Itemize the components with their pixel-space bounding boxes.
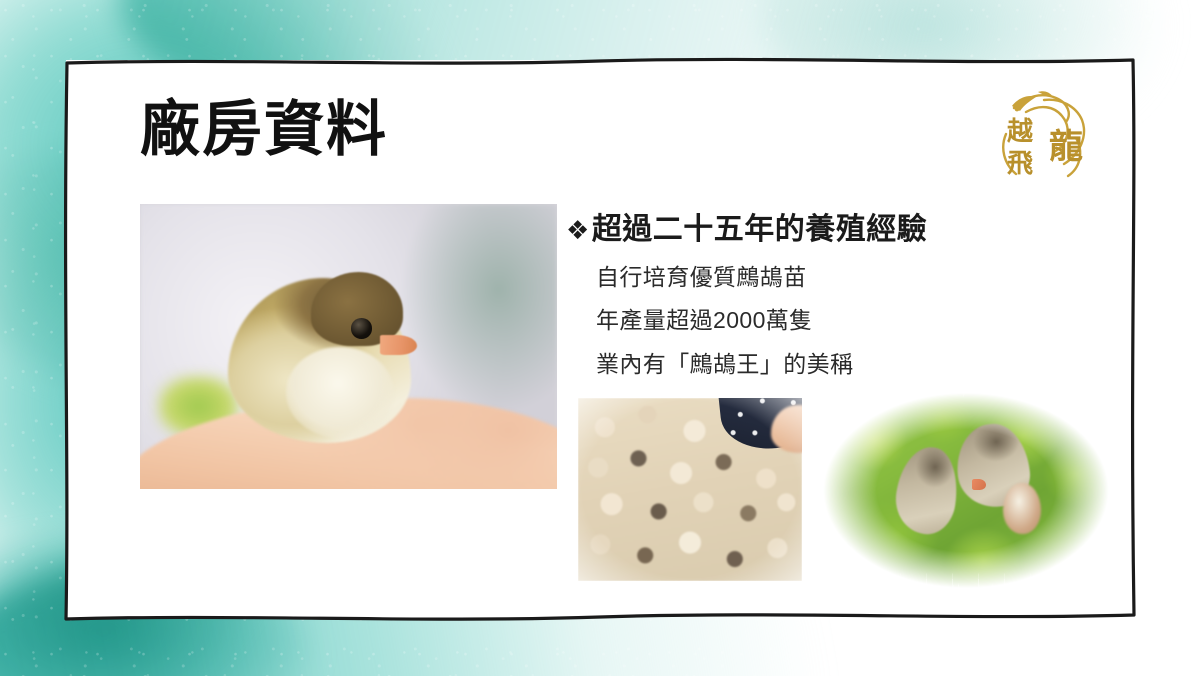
logo-char-yue: 越 [1007,117,1034,147]
photo-chick-in-hand [140,204,557,489]
content-line-3: 業內有「鷓鴣王」的美稱 [596,350,1036,380]
photo-chick-breast [286,347,394,438]
bullet-heading-label: 超過二十五年的養殖經驗 [592,212,928,249]
content-line-2: 年產量超過2000萬隻 [596,306,1036,336]
photo-chicks-in-grass [822,392,1110,589]
photo-chick-eye [351,318,373,339]
brand-logo: 越 飛 龍 [984,78,1102,188]
photo-hatching-eggs [578,398,802,581]
page-title: 廠房資料 [140,96,388,163]
logo-char-long: 龍 [1049,127,1083,167]
photo-grass-chick-beak [972,479,986,491]
dragon-swirl-icon: 越 飛 龍 [984,78,1102,188]
photo-chick-beak [380,335,418,355]
diamond-bullet-icon: ❖ [566,215,590,247]
content-text-block: ❖ 超過二十五年的養殖經驗 自行培育優質鷓鴣苗 年產量超過2000萬隻 業內有「… [566,212,1036,380]
logo-char-fei: 飛 [1007,149,1033,179]
photo-grass-egg [1003,483,1040,534]
bullet-heading: ❖ 超過二十五年的養殖經驗 [566,212,1036,249]
content-line-1: 自行培育優質鷓鴣苗 [596,263,1036,293]
slide-canvas: 廠房資料 越 飛 龍 [0,0,1200,676]
